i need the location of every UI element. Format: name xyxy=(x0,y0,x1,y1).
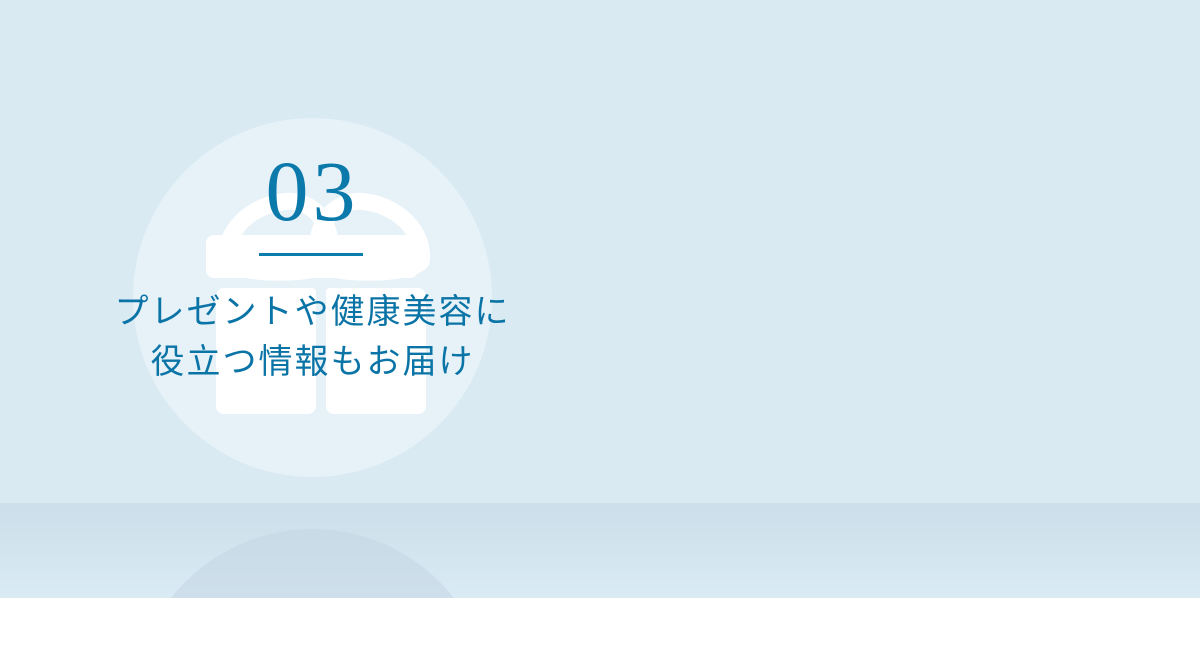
circle-reflection xyxy=(133,529,492,598)
hero-panel-background: 03 プレゼントや健康美容に 役立つ情報もお届け xyxy=(0,0,1200,503)
step-content: 03 プレゼントや健康美容に 役立つ情報もお届け xyxy=(0,0,625,503)
reflection-band xyxy=(0,503,1200,598)
footer-white-strip xyxy=(0,598,1200,647)
step-headline: プレゼントや健康美容に 役立つ情報もお届け xyxy=(0,287,625,388)
step-number: 03 xyxy=(0,148,625,234)
title-divider xyxy=(259,253,363,256)
screenshot-stage: 03 プレゼントや健康美容に 役立つ情報もお届け xyxy=(0,0,1200,647)
